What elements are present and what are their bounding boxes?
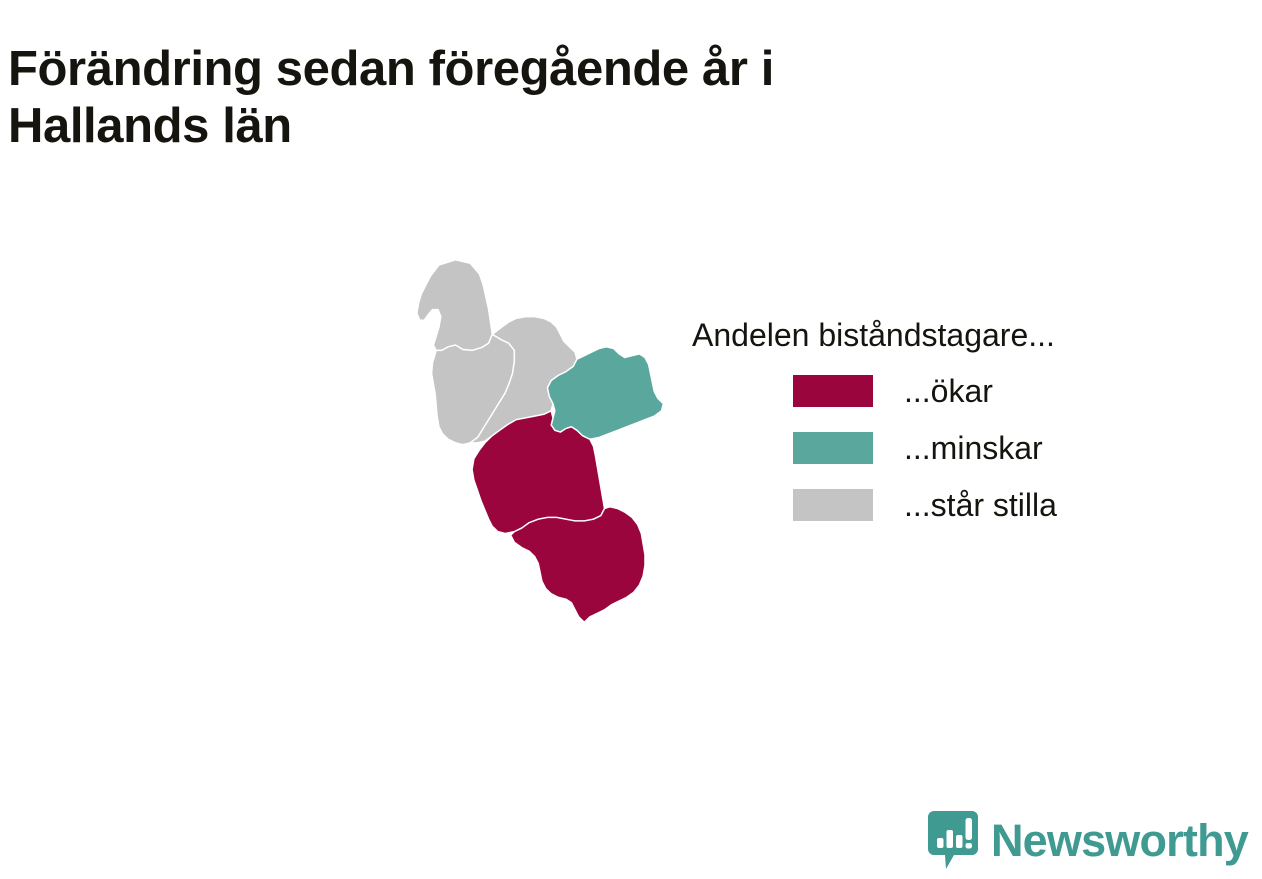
map-area-kungsbacka[interactable] (417, 260, 492, 351)
legend: Andelen biståndstagare... ...ökar ...min… (692, 318, 1212, 528)
legend-swatch-minskar (793, 432, 873, 464)
legend-item-okar[interactable]: ...ökar (692, 368, 1212, 414)
logo-wordmark: Newsworthy (991, 818, 1248, 863)
speech-bubble-bar-chart-icon (928, 811, 978, 869)
newsworthy-logo[interactable]: Newsworthy (928, 809, 1248, 871)
legend-label-okar: ...ökar (904, 375, 993, 407)
page-title: Förändring sedan föregående år i Halland… (8, 41, 1128, 156)
legend-item-star-stilla[interactable]: ...står stilla (692, 482, 1212, 528)
halland-county-map (390, 258, 690, 633)
legend-item-minskar[interactable]: ...minskar (692, 425, 1212, 471)
legend-label-minskar: ...minskar (904, 432, 1043, 464)
map-area-laholm[interactable] (511, 507, 645, 622)
legend-swatch-okar (793, 375, 873, 407)
map-container (390, 258, 690, 633)
legend-swatch-star-stilla (793, 489, 873, 521)
legend-title: Andelen biståndstagare... (692, 318, 1212, 354)
legend-label-star-stilla: ...står stilla (904, 489, 1057, 521)
